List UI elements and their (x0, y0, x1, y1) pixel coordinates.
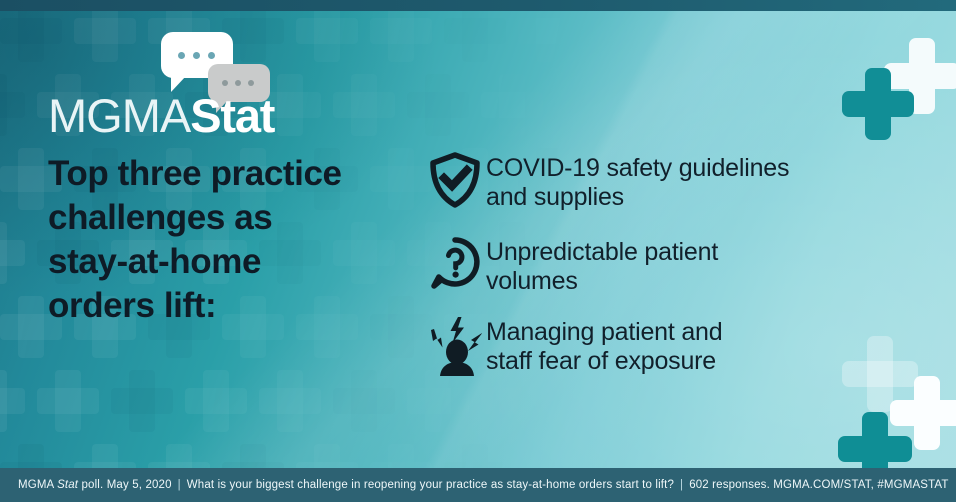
challenges-list: COVID-19 safety guidelines and supplies … (428, 152, 928, 398)
question-speech-bubble-icon (428, 236, 486, 298)
challenge-3-line-2: staff fear of exposure (486, 347, 722, 376)
challenge-text-3: Managing patient and staff fear of expos… (486, 316, 722, 376)
challenge-item-2: Unpredictable patient volumes (428, 236, 928, 298)
logo-stat-text: Stat (190, 89, 274, 142)
footer-separator-2: | (674, 479, 689, 491)
logo-wordmark: MGMAStat (48, 92, 274, 139)
challenge-1-line-2: and supplies (486, 183, 789, 212)
headline-line-3: stay-at-home (48, 240, 398, 284)
footer-bar: MGMA Stat poll. May 5, 2020|What is your… (0, 468, 956, 502)
footer-question: What is your biggest challenge in reopen… (187, 479, 674, 491)
headline-line-2: challenges as (48, 196, 398, 240)
stressed-person-icon (428, 316, 486, 378)
footer-separator-1: | (172, 479, 187, 491)
headline-line-1: Top three practice (48, 152, 398, 196)
challenge-1-line-1: COVID-19 safety guidelines (486, 154, 789, 183)
challenge-item-3: Managing patient and staff fear of expos… (428, 316, 928, 378)
challenge-2-line-2: volumes (486, 267, 718, 296)
challenge-3-line-1: Managing patient and (486, 318, 722, 347)
logo-mgma-text: MGMA (48, 89, 190, 142)
page-title: Top three practice challenges as stay-at… (48, 152, 398, 328)
footer-source-italic: Stat (57, 479, 78, 491)
decorative-cross-teal-top (842, 68, 914, 140)
shield-check-icon (428, 152, 486, 214)
footer-source-text: MGMA Stat poll. May 5, 2020|What is your… (0, 479, 949, 491)
footer-source-prefix: MGMA (18, 479, 57, 491)
footer-responses: 602 responses. (689, 479, 770, 491)
top-accent-bar (0, 0, 956, 11)
footer-source-suffix: poll. May 5, 2020 (78, 479, 171, 491)
challenge-item-1: COVID-19 safety guidelines and supplies (428, 152, 928, 214)
challenge-text-1: COVID-19 safety guidelines and supplies (486, 152, 789, 212)
challenge-text-2: Unpredictable patient volumes (486, 236, 718, 296)
footer-url: MGMA.COM/STAT, #MGMASTAT (773, 479, 948, 491)
challenge-2-line-1: Unpredictable patient (486, 238, 718, 267)
headline-line-4: orders lift: (48, 284, 398, 328)
infographic-canvas: MGMAStat Top three practice challenges a… (0, 0, 956, 502)
mgma-stat-logo: MGMAStat (48, 32, 280, 137)
